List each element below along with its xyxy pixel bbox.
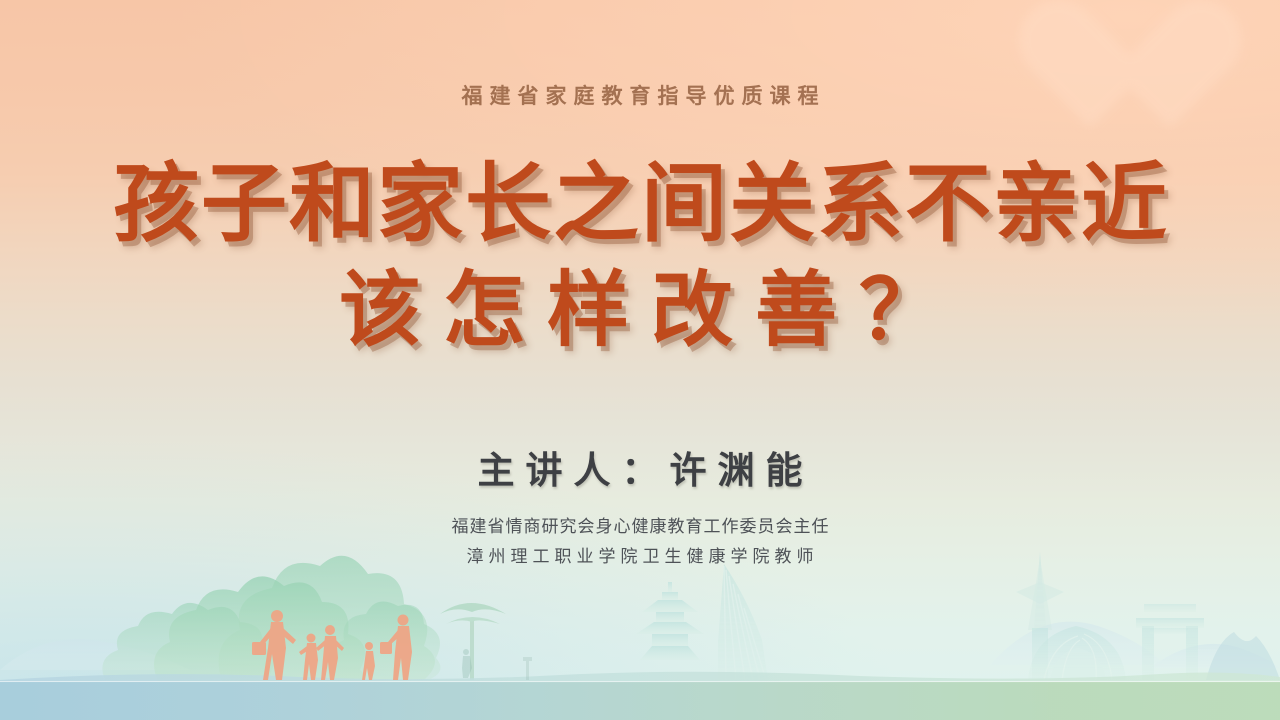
page-title: 孩子和家长之间关系不亲近 该怎样改善？ xyxy=(0,158,1280,355)
program-banner-label: 福建省家庭教育指导优质课程 xyxy=(0,80,1280,110)
tree-foliage-icon xyxy=(102,556,440,682)
title-line-one: 孩子和家长之间关系不亲近 xyxy=(0,158,1280,251)
title-line-two: 该怎样改善？ xyxy=(0,267,1280,356)
water-band xyxy=(0,682,1280,720)
pagoda-icon xyxy=(636,582,704,660)
archway-icon xyxy=(1136,604,1204,680)
pine-tree-icon xyxy=(440,603,506,680)
fan-building-icon xyxy=(718,564,768,680)
speaker-name: 主讲人：许渊能 xyxy=(0,440,1280,494)
course-cover-slide: 福建省家庭教育指导优质课程 孩子和家长之间关系不亲近 该怎样改善？ 主讲人：许渊… xyxy=(0,0,1280,720)
scenery-illustration xyxy=(0,530,1280,720)
